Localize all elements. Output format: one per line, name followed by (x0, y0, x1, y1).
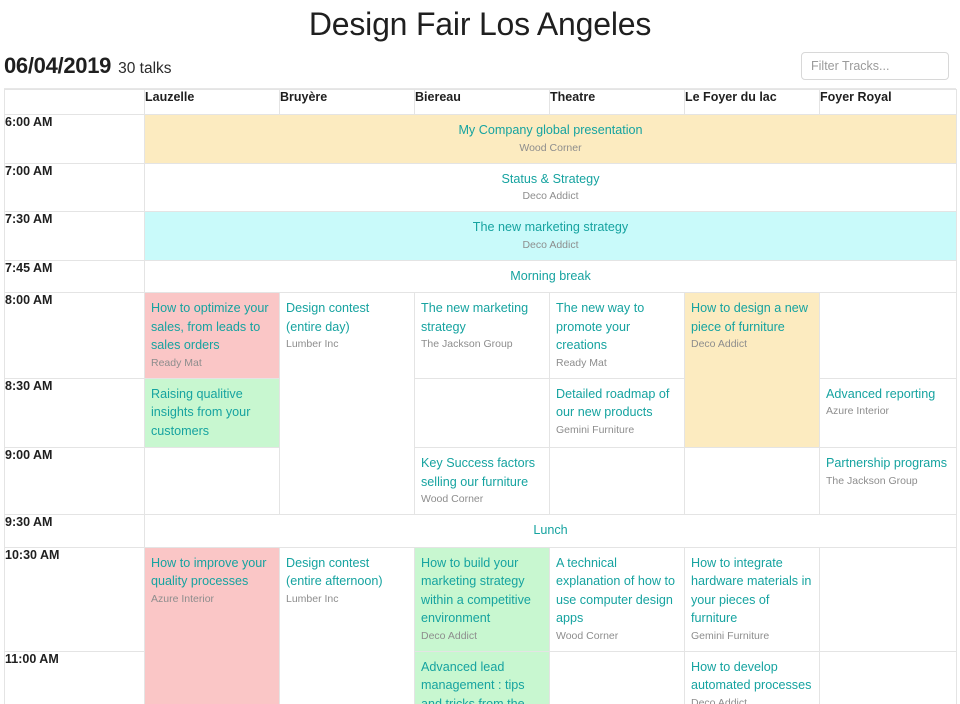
time-slot-label: 9:00 AM (5, 448, 145, 515)
time-slot-label: 7:00 AM (5, 163, 145, 212)
talk-title[interactable]: How to improve your quality processes (151, 554, 273, 591)
talk-cell[interactable]: The new way to promote your creationsRea… (550, 293, 685, 379)
talk-sponsor: Wood Corner (556, 629, 678, 644)
talk-banner-cell[interactable]: Morning break (145, 260, 957, 293)
talk-sponsor: Azure Interior (151, 592, 273, 607)
talk-sponsor: Ready Mat (151, 356, 273, 371)
talk-sponsor: Deco Addict (421, 629, 543, 644)
track-header-bruyere: Bruyère (280, 90, 415, 115)
agenda-row: 8:00 AMHow to optimize your sales, from … (5, 293, 957, 379)
agenda-date: 06/04/2019 (4, 53, 111, 79)
page-title: Design Fair Los Angeles (0, 0, 960, 44)
talk-cell[interactable]: How to improve your quality processesAzu… (145, 547, 280, 704)
talk-sponsor: Deco Addict (145, 238, 956, 253)
talk-cell[interactable]: Partnership programsThe Jackson Group (820, 448, 957, 515)
talk-title[interactable]: Advanced lead management : tips and tric… (421, 658, 543, 704)
talk-title[interactable]: Lunch (145, 521, 956, 540)
time-slot-label: 11:00 AM (5, 651, 145, 704)
time-slot-label: 9:30 AM (5, 515, 145, 548)
empty-cell (550, 448, 685, 515)
track-header-row: Lauzelle Bruyère Biereau Theatre Le Foye… (5, 90, 957, 115)
track-header-foyer-royal: Foyer Royal (820, 90, 957, 115)
talk-sponsor: The Jackson Group (826, 474, 950, 489)
talks-count: 30 talks (118, 60, 171, 78)
talk-cell[interactable]: How to design a new piece of furnitureDe… (685, 293, 820, 448)
talk-cell[interactable]: Design contest (entire day)Lumber Inc (280, 293, 415, 515)
talk-title[interactable]: Advanced reporting (826, 385, 950, 404)
agenda-row: 7:45 AMMorning break (5, 260, 957, 293)
agenda-table-body: 6:00 AMMy Company global presentationWoo… (5, 115, 957, 704)
talk-title[interactable]: Key Success factors selling our furnitur… (421, 454, 543, 491)
talk-sponsor: Lumber Inc (286, 337, 408, 352)
track-header-biereau: Biereau (415, 90, 550, 115)
talk-title[interactable]: Status & Strategy (145, 170, 956, 189)
talk-sponsor: Lumber Inc (286, 592, 408, 607)
talk-sponsor: Ready Mat (556, 356, 678, 371)
talk-cell[interactable]: Detailed roadmap of our new productsGemi… (550, 378, 685, 448)
talk-sponsor: Gemini Furniture (556, 423, 678, 438)
agenda-row: 9:30 AMLunch (5, 515, 957, 548)
agenda-table-wrapper: Lauzelle Bruyère Biereau Theatre Le Foye… (0, 89, 960, 704)
time-slot-label: 8:00 AM (5, 293, 145, 379)
empty-cell (820, 651, 957, 704)
empty-cell (415, 378, 550, 448)
agenda-table: Lauzelle Bruyère Biereau Theatre Le Foye… (4, 89, 957, 704)
talk-banner-cell[interactable]: The new marketing strategyDeco Addict (145, 212, 957, 261)
talk-title[interactable]: Detailed roadmap of our new products (556, 385, 678, 422)
talk-cell[interactable]: Design contest (entire afternoon)Lumber … (280, 547, 415, 704)
talk-sponsor: Deco Addict (145, 189, 956, 204)
talk-banner-cell[interactable]: Lunch (145, 515, 957, 548)
talk-sponsor: Deco Addict (691, 696, 813, 704)
talk-cell[interactable]: A technical explanation of how to use co… (550, 547, 685, 651)
talk-title[interactable]: How to integrate hardware materials in y… (691, 554, 813, 628)
talk-sponsor: Wood Corner (421, 492, 543, 507)
talk-cell[interactable]: How to integrate hardware materials in y… (685, 547, 820, 651)
agenda-row: 7:30 AMThe new marketing strategyDeco Ad… (5, 212, 957, 261)
talk-cell[interactable]: Advanced lead management : tips and tric… (415, 651, 550, 704)
talk-cell[interactable]: Advanced reportingAzure Interior (820, 378, 957, 448)
track-header-le-foyer-du-lac: Le Foyer du lac (685, 90, 820, 115)
date-and-count: 06/04/2019 30 talks (4, 53, 172, 79)
empty-cell (685, 448, 820, 515)
subheader-bar: 06/04/2019 30 talks (0, 44, 960, 88)
talk-cell[interactable]: Key Success factors selling our furnitur… (415, 448, 550, 515)
talk-sponsor: Deco Addict (691, 337, 813, 352)
talk-title[interactable]: The new marketing strategy (421, 299, 543, 336)
talk-title[interactable]: How to develop automated processes (691, 658, 813, 695)
agenda-row: 6:00 AMMy Company global presentationWoo… (5, 115, 957, 164)
talk-cell[interactable]: The new marketing strategyThe Jackson Gr… (415, 293, 550, 379)
talk-title[interactable]: My Company global presentation (145, 121, 956, 140)
time-slot-label: 8:30 AM (5, 378, 145, 448)
talk-title[interactable]: Partnership programs (826, 454, 950, 473)
time-slot-label: 7:30 AM (5, 212, 145, 261)
agenda-row: 9:00 AMKey Success factors selling our f… (5, 448, 957, 515)
talk-sponsor: Gemini Furniture (691, 629, 813, 644)
talk-banner-cell[interactable]: My Company global presentationWood Corne… (145, 115, 957, 164)
talk-cell[interactable]: Raising qualitive insights from your cus… (145, 378, 280, 448)
filter-tracks-input[interactable] (801, 52, 949, 80)
talk-title[interactable]: How to design a new piece of furniture (691, 299, 813, 336)
talk-title[interactable]: Raising qualitive insights from your cus… (151, 385, 273, 441)
talk-cell[interactable]: How to build your marketing strategy wit… (415, 547, 550, 651)
track-header-time (5, 90, 145, 115)
talk-cell[interactable]: How to optimize your sales, from leads t… (145, 293, 280, 379)
empty-cell (820, 547, 957, 651)
talk-title[interactable]: Morning break (145, 267, 956, 286)
talk-cell[interactable]: How to develop automated processesDeco A… (685, 651, 820, 704)
agenda-row: 10:30 AMHow to improve your quality proc… (5, 547, 957, 651)
talk-title[interactable]: The new way to promote your creations (556, 299, 678, 355)
talk-banner-cell[interactable]: Status & StrategyDeco Addict (145, 163, 957, 212)
time-slot-label: 6:00 AM (5, 115, 145, 164)
agenda-page: Design Fair Los Angeles 06/04/2019 30 ta… (0, 0, 960, 704)
empty-cell (145, 448, 280, 515)
talk-title[interactable]: Design contest (entire afternoon) (286, 554, 408, 591)
track-header-lauzelle: Lauzelle (145, 90, 280, 115)
talk-title[interactable]: Design contest (entire day) (286, 299, 408, 336)
agenda-row: 7:00 AMStatus & StrategyDeco Addict (5, 163, 957, 212)
empty-cell (820, 293, 957, 379)
time-slot-label: 7:45 AM (5, 260, 145, 293)
talk-sponsor: Wood Corner (145, 141, 956, 156)
talk-title[interactable]: The new marketing strategy (145, 218, 956, 237)
filter-tracks-wrapper (801, 52, 949, 80)
track-header-theatre: Theatre (550, 90, 685, 115)
time-slot-label: 10:30 AM (5, 547, 145, 651)
talk-sponsor: Azure Interior (826, 404, 950, 419)
empty-cell (550, 651, 685, 704)
agenda-table-head: Lauzelle Bruyère Biereau Theatre Le Foye… (5, 90, 957, 115)
talk-title[interactable]: How to optimize your sales, from leads t… (151, 299, 273, 355)
talk-sponsor: The Jackson Group (421, 337, 543, 352)
talk-title[interactable]: A technical explanation of how to use co… (556, 554, 678, 628)
talk-title[interactable]: How to build your marketing strategy wit… (421, 554, 543, 628)
